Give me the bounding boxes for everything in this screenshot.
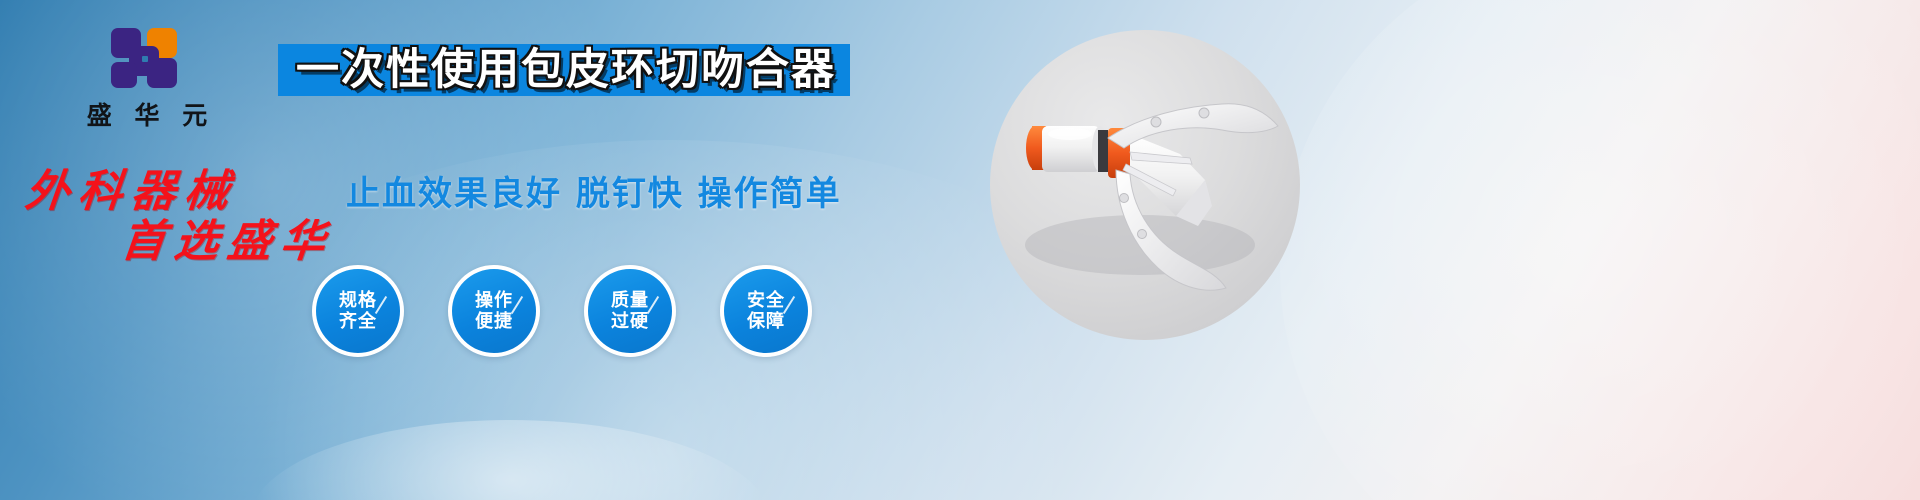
feature-badge-3-line1: 质量 [611,290,649,311]
background-glow-right [1280,0,1920,500]
feature-badge-3-line2: 过硬 [611,311,649,332]
headline-bar: 一次性使用包皮环切吻合器 [278,44,850,96]
feature-list: 规格 齐全 操作 便捷 质量 过硬 安全 保障 [312,265,812,357]
feature-badge-1-line1: 规格 [339,290,377,311]
background-arc [250,420,770,500]
feature-badge-2[interactable]: 操作 便捷 [448,265,540,357]
feature-badge-1[interactable]: 规格 齐全 [312,265,404,357]
subtitle: 止血效果良好 脱钉快 操作简单 [346,166,842,215]
page-title: 一次性使用包皮环切吻合器 [296,49,836,92]
product-image [990,30,1300,340]
feature-badge-2-line2: 便捷 [475,311,513,332]
promo-banner: 盛 华 元 外科器械 首选盛华 一次性使用包皮环切吻合器 止血效果良好 脱钉快 … [0,0,1920,500]
calligraphy-line-2: 首选盛华 [119,205,338,269]
brand-name: 盛 华 元 [62,96,232,132]
brand-logo[interactable]: 盛 华 元 [62,26,232,132]
feature-badge-2-line1: 操作 [475,290,513,311]
feature-badge-4-line2: 保障 [747,311,785,332]
feature-badge-3[interactable]: 质量 过硬 [584,265,676,357]
circumcision-stapler-device-photo-icon [990,30,1300,340]
feature-badge-1-line2: 齐全 [339,311,377,332]
shenghuayuan-blocks-logo-icon [109,26,185,90]
feature-badge-4[interactable]: 安全 保障 [720,265,812,357]
feature-badge-4-line1: 安全 [747,290,785,311]
